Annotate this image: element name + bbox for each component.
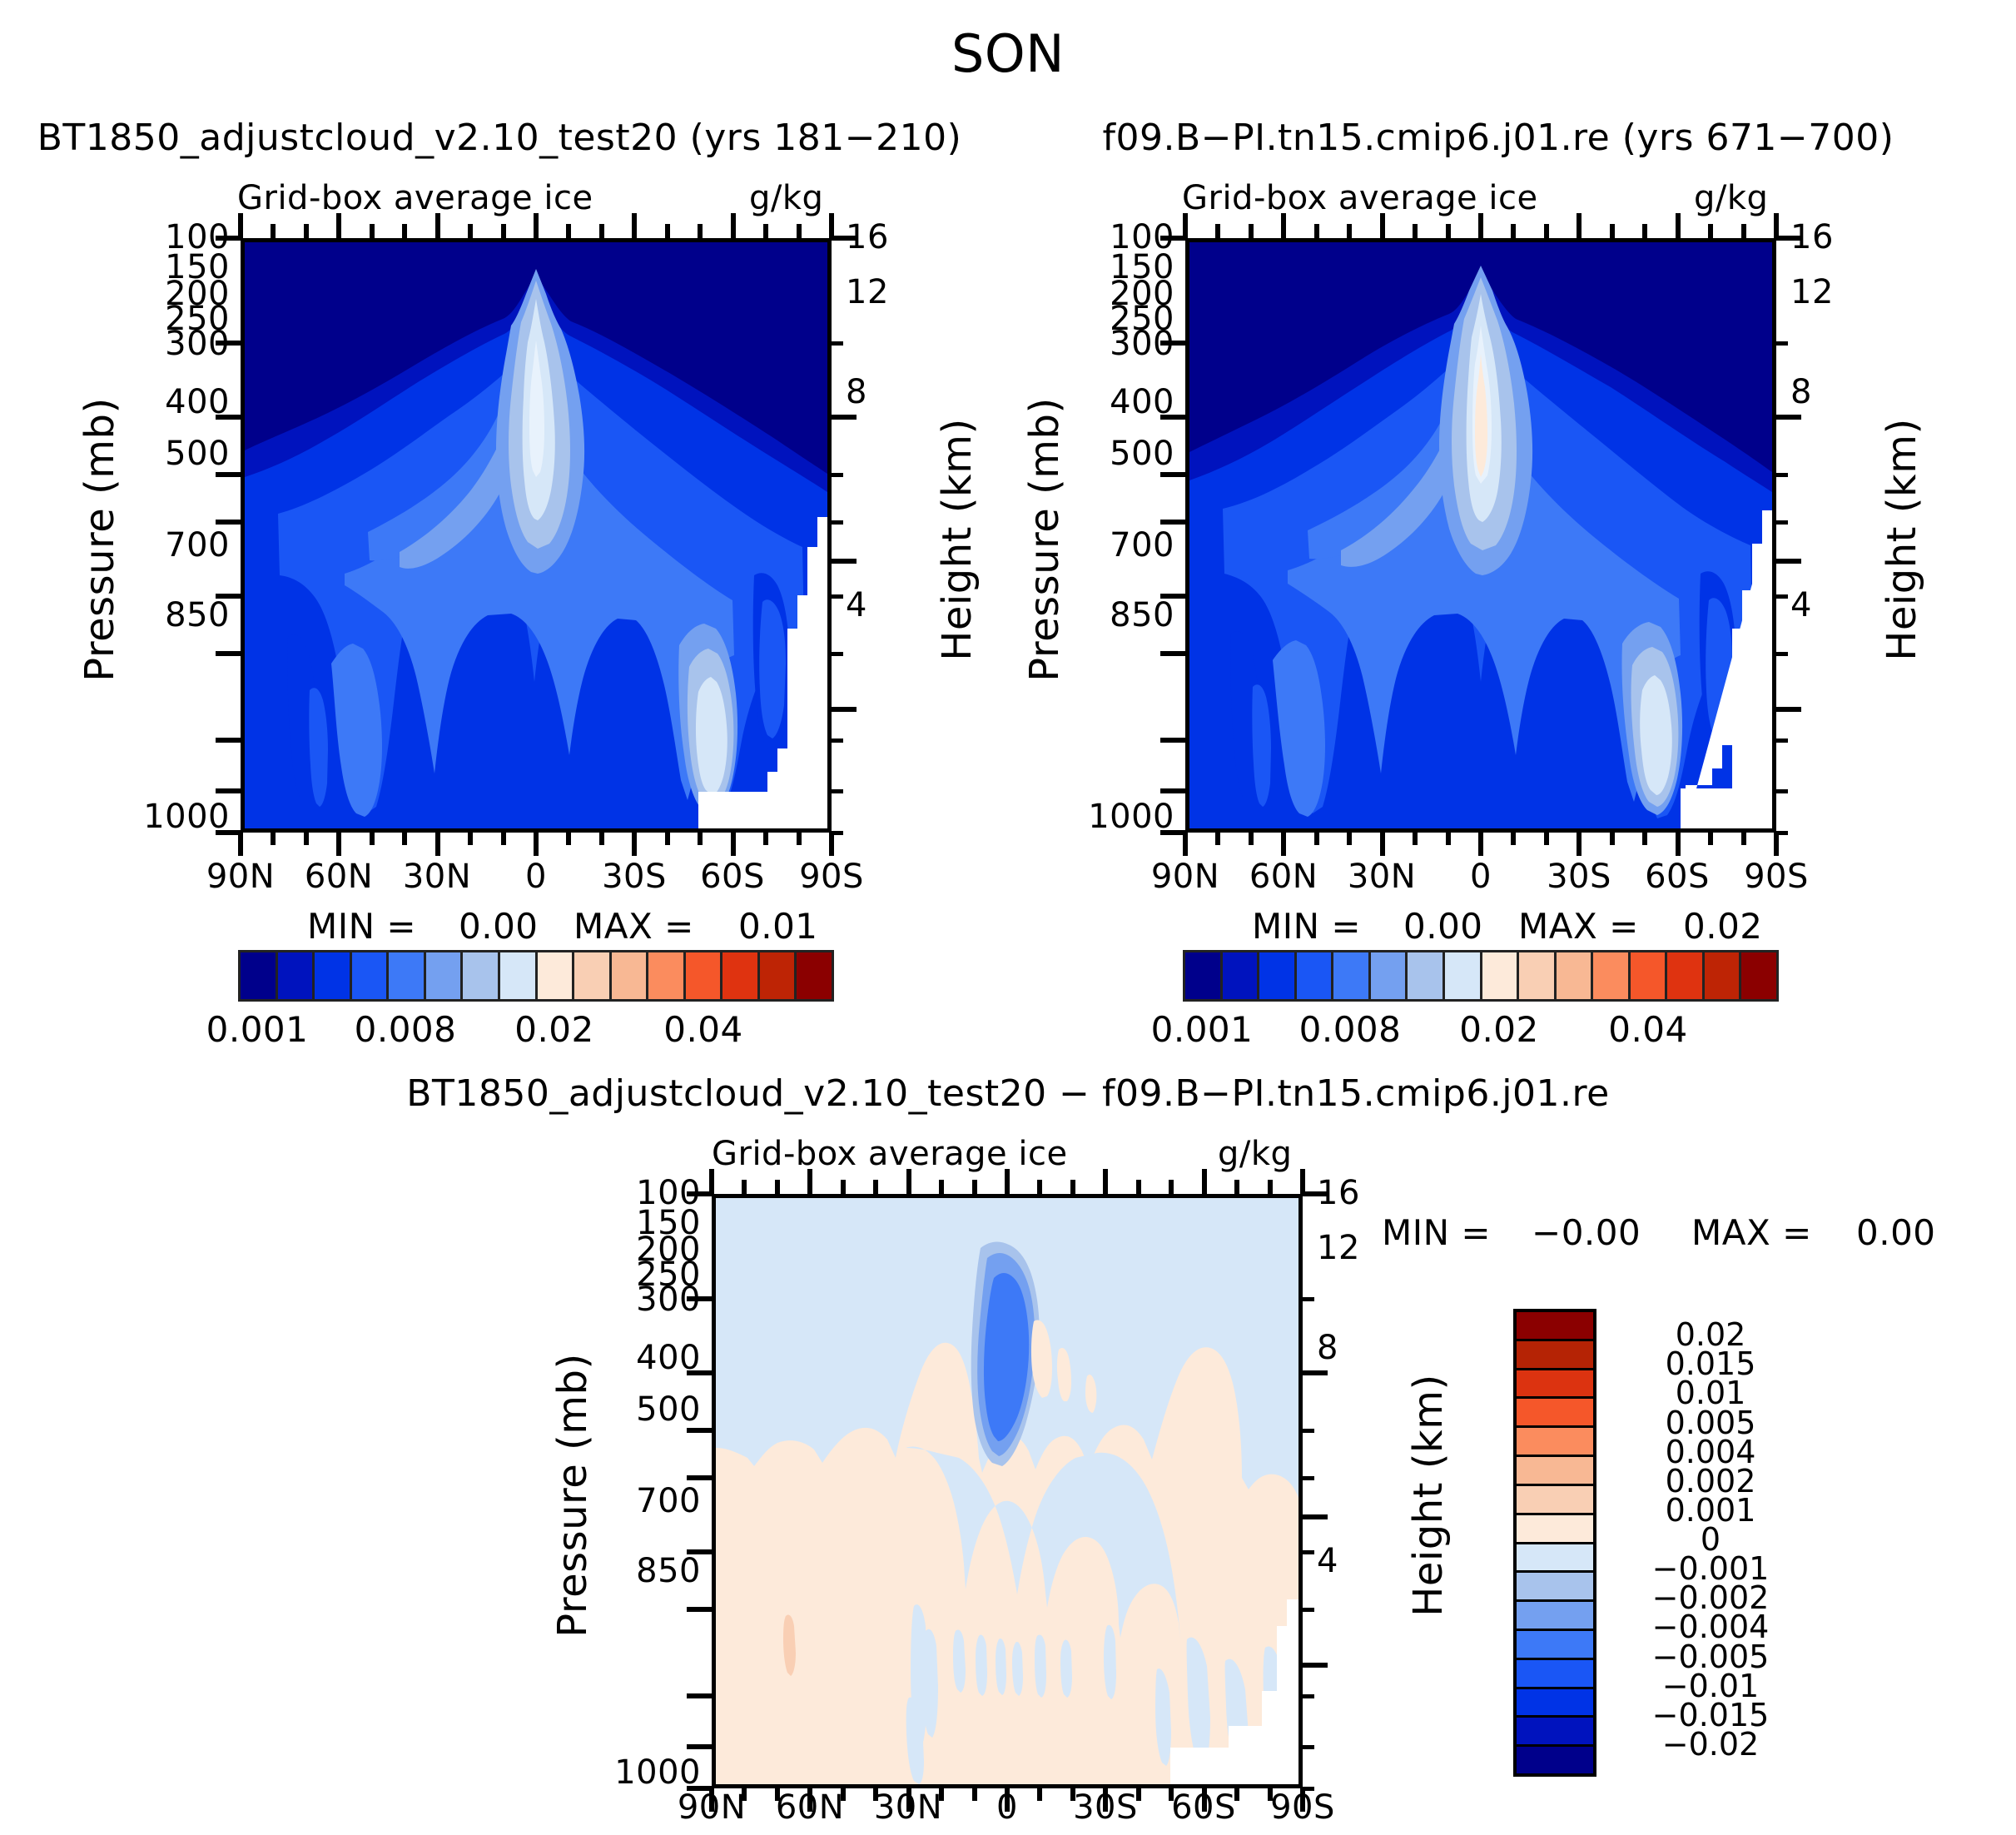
panel-bottom-minmax: MIN = −0.00 MAX = 0.00: [1382, 1212, 1998, 1262]
min-label: MIN =: [307, 906, 416, 947]
xtick-label: 30N: [855, 1788, 961, 1827]
colorbar-swatch-1[interactable]: [278, 952, 315, 999]
xtick-label: 30S: [581, 858, 688, 896]
colorbar-tick-label: 0.02: [499, 1009, 610, 1050]
xtick-label: 0: [483, 858, 589, 896]
colorbar-diff-swatch-4[interactable]: [1517, 1428, 1593, 1457]
panel-top-left-plot: [241, 238, 832, 833]
panel-bottom-ylabel: Pressure (mb): [549, 1287, 596, 1703]
xtick-label: 60S: [679, 858, 786, 896]
ytick-label: 500: [636, 1390, 701, 1429]
colorbar-swatch-0[interactable]: [241, 952, 278, 999]
ytick-label: 300: [165, 325, 230, 363]
panel-top-left-ylabel: Pressure (mb): [77, 331, 123, 748]
xtick-label: 90S: [778, 858, 885, 896]
panel-top-right-y2label: Height (km): [1879, 331, 1925, 748]
max-value: 0.02: [1683, 906, 1763, 947]
ytick-label: 500: [1110, 435, 1174, 473]
colorbar-diff-swatch-11[interactable]: [1517, 1631, 1593, 1660]
xtick-label: 30S: [1052, 1788, 1159, 1827]
panel-bottom-plot: [712, 1194, 1303, 1788]
colorbar-swatch-3[interactable]: [352, 952, 390, 999]
panel-top-right-plot: [1185, 238, 1776, 833]
ytick-label: 400: [165, 383, 230, 421]
colorbar-diff-swatch-13[interactable]: [1517, 1689, 1593, 1718]
colorbar-swatch-5[interactable]: [426, 952, 464, 999]
xtick-label: 60N: [1230, 858, 1337, 896]
panel-top-right-title: f09.B−PI.tn15.cmip6.j01.re (yrs 671−700): [1007, 117, 1989, 159]
colorbar-tick-label: 0.001: [201, 1009, 313, 1050]
ytick-label: 500: [165, 435, 230, 473]
xtick-label: 60N: [286, 858, 392, 896]
colorbar-swatch-1[interactable]: [1223, 952, 1260, 999]
panel-top-left-latitude-axis: 90N 60N 30N 0 30S 60S 90S: [241, 858, 832, 904]
panel-top-left-minmax: MIN = 0.00 MAX = 0.01: [241, 906, 832, 952]
colorbar-diff-swatch-15[interactable]: [1517, 1747, 1593, 1773]
colorbar-diff-swatch-12[interactable]: [1517, 1660, 1593, 1689]
figure-suptitle: SON: [0, 23, 2016, 84]
xtick-label: 90S: [1249, 1788, 1356, 1827]
panel-top-right-contour-field: [1189, 242, 1772, 828]
colorbar-diff-swatch-1[interactable]: [1517, 1341, 1593, 1370]
colorbar-tick-label: 0.001: [1146, 1009, 1258, 1050]
y2tick-label: 8: [846, 373, 867, 411]
panel-top-left-title: BT1850_adjustcloud_v2.10_test20 (yrs 181…: [8, 117, 991, 159]
max-label: MAX =: [1518, 906, 1639, 947]
colorbar-diff-tick-label: −0.02: [1606, 1726, 1815, 1763]
y2tick-label: 8: [1790, 373, 1812, 411]
colorbar-absolute-right-labels: 0.001 0.008 0.02 0.04: [1183, 1009, 1779, 1056]
colorbar-swatch-2[interactable]: [315, 952, 352, 999]
xtick-label: 90N: [187, 858, 294, 896]
colorbar-swatch-12[interactable]: [686, 952, 723, 999]
panel-top-right-ylabel: Pressure (mb): [1021, 331, 1068, 748]
xtick-label: 90N: [658, 1788, 765, 1827]
colorbar-swatch-15[interactable]: [1741, 952, 1776, 999]
panel-top-left-variable-label: Grid-box average ice: [237, 179, 593, 217]
min-label: MIN =: [1382, 1212, 1491, 1253]
xtick-label: 60S: [1624, 858, 1730, 896]
colorbar-swatch-10[interactable]: [612, 952, 649, 999]
colorbar-swatch-10[interactable]: [1557, 952, 1594, 999]
ytick-label: 300: [636, 1281, 701, 1319]
xtick-label: 60N: [757, 1788, 863, 1827]
y2tick-label: 12: [1317, 1229, 1360, 1267]
colorbar-swatch-13[interactable]: [722, 952, 760, 999]
colorbar-swatch-6[interactable]: [463, 952, 500, 999]
y2tick-label: 12: [846, 273, 889, 311]
xtick-label: 60S: [1150, 1788, 1257, 1827]
colorbar-diff-swatch-8[interactable]: [1517, 1544, 1593, 1574]
colorbar-swatch-9[interactable]: [574, 952, 612, 999]
colorbar-absolute-left-labels: 0.001 0.008 0.02 0.04: [238, 1009, 834, 1056]
colorbar-swatch-12[interactable]: [1631, 952, 1668, 999]
xtick-label: 30N: [1328, 858, 1435, 896]
ytick-label: 1000: [143, 798, 230, 836]
colorbar-diff-swatch-10[interactable]: [1517, 1602, 1593, 1631]
ytick-label: 300: [1110, 325, 1174, 363]
panel-bottom-contour-field: [716, 1198, 1298, 1784]
y2tick-label: 16: [1790, 218, 1834, 256]
ytick-label: 850: [165, 596, 230, 634]
colorbar-swatch-8[interactable]: [538, 952, 575, 999]
panel-top-right-variable-label: Grid-box average ice: [1182, 179, 1538, 217]
y2tick-label: 16: [846, 218, 889, 256]
colorbar-swatch-9[interactable]: [1519, 952, 1557, 999]
colorbar-diff-swatch-14[interactable]: [1517, 1718, 1593, 1747]
y2tick-label: 12: [1790, 273, 1834, 311]
ytick-label: 400: [1110, 383, 1174, 421]
colorbar-swatch-7[interactable]: [1445, 952, 1482, 999]
colorbar-swatch-11[interactable]: [1593, 952, 1631, 999]
ytick-label: 700: [1110, 526, 1174, 564]
colorbar-diff-swatch-0[interactable]: [1517, 1312, 1593, 1341]
panel-top-left-units-label: g/kg: [749, 179, 823, 217]
colorbar-swatch-3[interactable]: [1297, 952, 1334, 999]
colorbar-tick-label: 0.04: [648, 1009, 759, 1050]
y2tick-label: 16: [1317, 1174, 1360, 1212]
xtick-label: 0: [954, 1788, 1060, 1827]
colorbar-absolute-left[interactable]: [238, 950, 834, 1002]
colorbar-swatch-8[interactable]: [1482, 952, 1520, 999]
panel-top-left-y2label: Height (km): [934, 331, 981, 748]
colorbar-diff-swatch-2[interactable]: [1517, 1370, 1593, 1400]
max-label: MAX =: [574, 906, 694, 947]
colorbar-swatch-0[interactable]: [1185, 952, 1223, 999]
colorbar-difference[interactable]: [1513, 1309, 1596, 1777]
xtick-label: 90S: [1723, 858, 1830, 896]
colorbar-difference-labels: 0.020.0150.010.0050.0040.0020.0010−0.001…: [1606, 1309, 1848, 1777]
min-value: −0.00: [1532, 1212, 1641, 1253]
colorbar-swatch-15[interactable]: [797, 952, 832, 999]
colorbar-swatch-5[interactable]: [1371, 952, 1408, 999]
xtick-label: 30N: [384, 858, 490, 896]
panel-top-right-units-label: g/kg: [1694, 179, 1768, 217]
xtick-label: 30S: [1526, 858, 1632, 896]
ytick-label: 1000: [614, 1753, 701, 1792]
ytick-label: 700: [636, 1482, 701, 1520]
max-label: MAX =: [1691, 1212, 1812, 1253]
ytick-label: 400: [636, 1339, 701, 1377]
min-label: MIN =: [1252, 906, 1361, 947]
ytick-label: 1000: [1088, 798, 1174, 836]
ytick-label: 850: [636, 1552, 701, 1590]
ytick-label: 850: [1110, 596, 1174, 634]
panel-top-right-minmax: MIN = 0.00 MAX = 0.02: [1185, 906, 1776, 952]
colorbar-tick-label: 0.04: [1592, 1009, 1704, 1050]
colorbar-tick-label: 0.008: [1294, 1009, 1406, 1050]
colorbar-diff-swatch-9[interactable]: [1517, 1573, 1593, 1602]
panel-bottom-title: BT1850_adjustcloud_v2.10_test20 − f09.B−…: [176, 1072, 1840, 1115]
panel-bottom-variable-label: Grid-box average ice: [712, 1135, 1068, 1173]
xtick-label: 0: [1428, 858, 1534, 896]
colorbar-diff-swatch-5[interactable]: [1517, 1457, 1593, 1486]
y2tick-label: 4: [846, 586, 867, 624]
colorbar-swatch-2[interactable]: [1259, 952, 1297, 999]
max-value: 0.00: [1856, 1212, 1936, 1253]
y2tick-label: 4: [1790, 586, 1812, 624]
panel-bottom-height-axis: 16 12 8 4: [1312, 1194, 1412, 1788]
colorbar-tick-label: 0.008: [350, 1009, 461, 1050]
panel-top-right-latitude-axis: 90N 60N 30N 0 30S 60S 90S: [1185, 858, 1776, 904]
colorbar-swatch-6[interactable]: [1408, 952, 1445, 999]
colorbar-swatch-4[interactable]: [389, 952, 426, 999]
panel-bottom-units-label: g/kg: [1218, 1135, 1292, 1173]
panel-top-left-height-axis: 16 12 8 4: [841, 238, 941, 833]
min-value: 0.00: [1403, 906, 1483, 947]
colorbar-swatch-4[interactable]: [1333, 952, 1371, 999]
colorbar-swatch-7[interactable]: [500, 952, 538, 999]
colorbar-swatch-11[interactable]: [648, 952, 686, 999]
colorbar-swatch-14[interactable]: [1705, 952, 1742, 999]
colorbar-diff-swatch-6[interactable]: [1517, 1486, 1593, 1515]
colorbar-diff-swatch-3[interactable]: [1517, 1399, 1593, 1428]
min-value: 0.00: [459, 906, 539, 947]
ytick-label: 700: [165, 526, 230, 564]
xtick-label: 90N: [1132, 858, 1239, 896]
max-value: 0.01: [738, 906, 818, 947]
colorbar-absolute-right[interactable]: [1183, 950, 1779, 1002]
panel-top-left-contour-field: [245, 242, 827, 828]
y2tick-label: 4: [1317, 1542, 1338, 1580]
y2tick-label: 8: [1317, 1329, 1338, 1367]
colorbar-swatch-13[interactable]: [1667, 952, 1705, 999]
panel-top-right-height-axis: 16 12 8 4: [1785, 238, 1885, 833]
panel-bottom-latitude-axis: 90N 60N 30N 0 30S 60S 90S: [712, 1788, 1303, 1835]
colorbar-tick-label: 0.02: [1443, 1009, 1555, 1050]
colorbar-swatch-14[interactable]: [760, 952, 797, 999]
colorbar-diff-swatch-7[interactable]: [1517, 1515, 1593, 1544]
panel-bottom-y2label: Height (km): [1405, 1287, 1452, 1703]
